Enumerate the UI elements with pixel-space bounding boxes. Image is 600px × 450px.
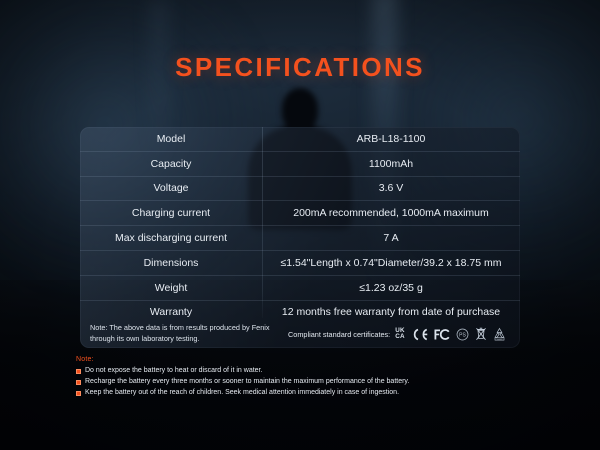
warning-bullet-icon xyxy=(76,391,81,396)
spec-value: ≤1.54"Length x 0.74"Diameter/39.2 x 18.7… xyxy=(262,250,520,275)
ukca-line-2: CA xyxy=(395,334,405,340)
table-row: Model ARB-L18-1100 xyxy=(80,127,520,151)
specifications-page: SPECIFICATIONS Model ARB-L18-1100 Capaci… xyxy=(0,0,600,450)
spec-value: 200mA recommended, 1000mA maximum xyxy=(262,201,520,226)
list-item: Keep the battery out of the reach of chi… xyxy=(76,389,546,398)
table-row: Weight ≤1.23 oz/35 g xyxy=(80,275,520,300)
spec-value: 7 A xyxy=(262,226,520,251)
warning-text: Keep the battery out of the reach of chi… xyxy=(85,389,399,398)
laboratory-testing-note: Note: The above data is from results pro… xyxy=(90,323,286,345)
spec-label: Capacity xyxy=(80,151,262,176)
table-row: Max discharging current 7 A xyxy=(80,226,520,251)
specifications-panel: Model ARB-L18-1100 Capacity 1100mAh Volt… xyxy=(80,127,520,348)
battery-recycling-icon: Li-ion xyxy=(493,327,506,341)
weee-crossed-bin-icon xyxy=(475,327,487,341)
table-row: Capacity 1100mAh xyxy=(80,151,520,176)
svg-text:PS: PS xyxy=(459,332,466,338)
table-row: Charging current 200mA recommended, 1000… xyxy=(80,201,520,226)
table-row: Voltage 3.6 V xyxy=(80,176,520,201)
warning-bullet-icon xyxy=(76,380,81,385)
spec-label: Weight xyxy=(80,275,262,300)
spec-label: Charging current xyxy=(80,201,262,226)
table-row: Dimensions ≤1.54"Length x 0.74"Diameter/… xyxy=(80,250,520,275)
warnings-section: Note: Do not expose the battery to heat … xyxy=(76,356,546,400)
spec-label: Dimensions xyxy=(80,250,262,275)
list-item: Recharge the battery every three months … xyxy=(76,378,546,387)
ukca-mark-icon: UK CA xyxy=(395,328,405,341)
spec-label: Max discharging current xyxy=(80,226,262,251)
warning-bullet-icon xyxy=(76,369,81,374)
spec-label: Model xyxy=(80,127,262,151)
page-title: SPECIFICATIONS xyxy=(0,52,600,83)
spec-value: ARB-L18-1100 xyxy=(262,127,520,151)
certificates-label: Compliant standard certificates: xyxy=(288,330,390,339)
warning-text: Recharge the battery every three months … xyxy=(85,378,409,387)
spec-value: 1100mAh xyxy=(262,151,520,176)
pse-mark-icon: PS xyxy=(456,328,469,341)
battery-recycling-label: Li-ion xyxy=(496,339,502,341)
warnings-title: Note: xyxy=(76,356,546,363)
spec-value: ≤1.23 oz/35 g xyxy=(262,275,520,300)
certificates-section: Compliant standard certificates: UK CA xyxy=(288,327,506,341)
spec-value: 3.6 V xyxy=(262,176,520,201)
panel-footer: Note: The above data is from results pro… xyxy=(80,320,520,348)
certificate-icons: UK CA xyxy=(395,327,506,341)
spec-label: Voltage xyxy=(80,176,262,201)
specifications-table-body: Model ARB-L18-1100 Capacity 1100mAh Volt… xyxy=(80,127,520,324)
warning-text: Do not expose the battery to heat or dis… xyxy=(85,367,262,376)
list-item: Do not expose the battery to heat or dis… xyxy=(76,367,546,376)
ce-mark-icon xyxy=(411,328,428,341)
specifications-table: Model ARB-L18-1100 Capacity 1100mAh Volt… xyxy=(80,127,520,324)
fcc-mark-icon xyxy=(434,328,450,341)
